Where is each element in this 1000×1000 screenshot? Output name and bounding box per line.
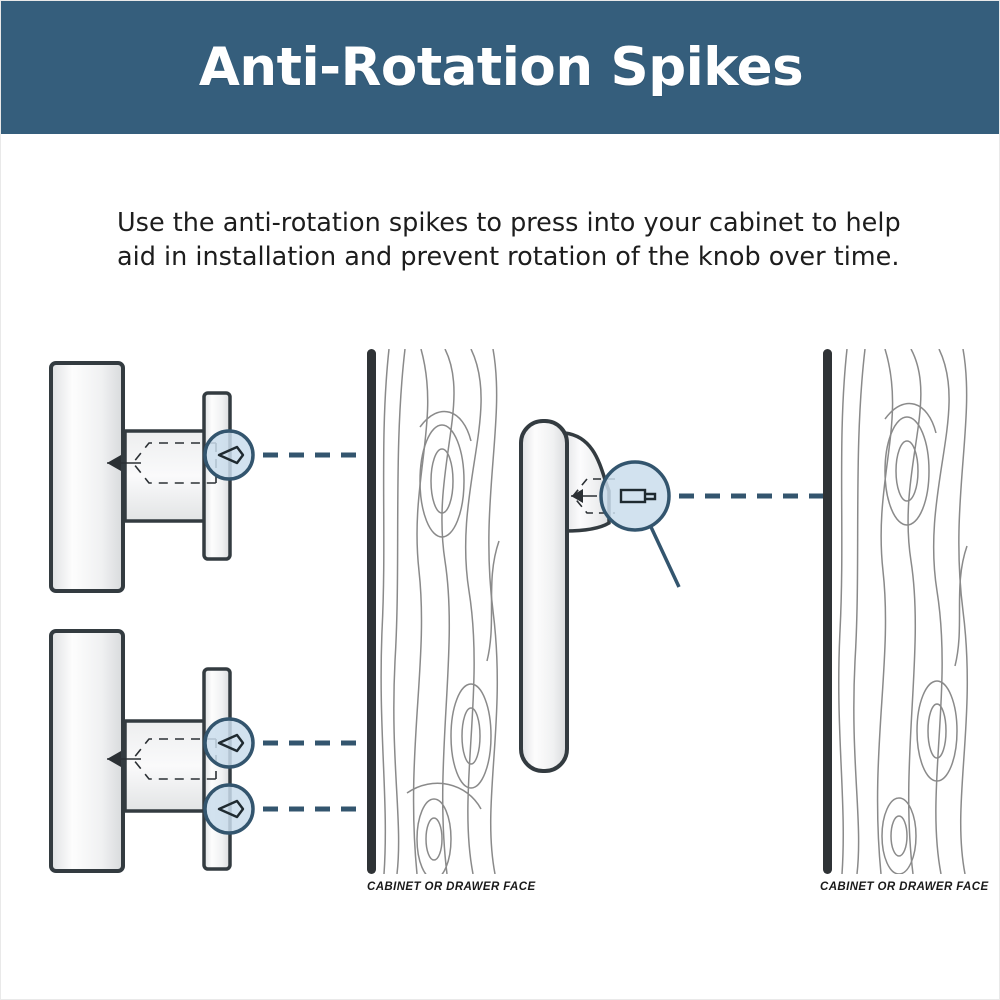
intro-paragraph: Use the anti-rotation spikes to press in…: [117, 206, 929, 275]
caption-right-cabinet-face: CABINET OR DRAWER FACE: [820, 881, 989, 893]
infographic-page: Anti-Rotation Spikes Use the anti-rotati…: [0, 0, 1000, 1000]
pull-bar: [521, 421, 567, 771]
pull-assembly: [521, 421, 823, 771]
spike-highlight-bottom-1: [205, 719, 253, 767]
knob-body-bottom: [51, 631, 123, 871]
magnifier-leader-line: [651, 527, 679, 587]
spike-highlight-pull: [601, 462, 669, 530]
caption-left-cabinet-face: CABINET OR DRAWER FACE: [367, 881, 536, 893]
knob-assembly-single-spike: [51, 363, 367, 591]
knob-assembly-double-spike: [51, 631, 367, 871]
wood-grain-right: [839, 349, 968, 874]
left-cabinet-face: [367, 349, 499, 879]
page-title: Anti-Rotation Spikes: [199, 37, 803, 98]
right-cabinet-face: [823, 349, 967, 874]
knob-baseplate-bottom: [204, 669, 230, 869]
page-header: Anti-Rotation Spikes: [1, 1, 1000, 134]
spike-highlight-top: [205, 431, 253, 479]
right-face-edge: [823, 349, 832, 874]
spike-highlight-bottom-2: [205, 785, 253, 833]
wood-grain-left: [381, 349, 499, 879]
knob-shaft-top: [125, 431, 215, 521]
diagram-illustration: ANTI-ROTATION TEETH: [1, 331, 1000, 911]
left-face-edge: [367, 349, 376, 874]
knob-body-top: [51, 363, 123, 591]
